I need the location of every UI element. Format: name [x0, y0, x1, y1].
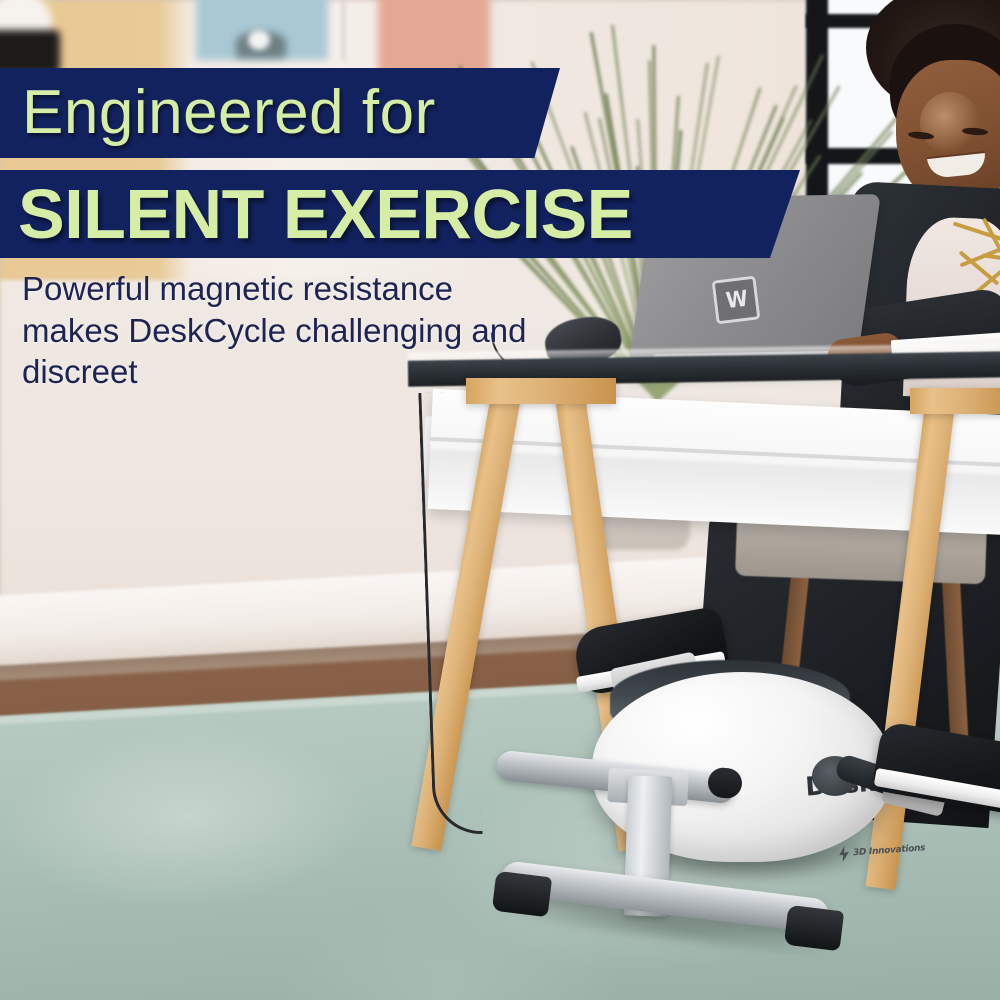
face-highlight — [920, 92, 980, 154]
base-foot-left — [492, 871, 552, 918]
lamp-base — [0, 30, 60, 74]
desk-leg-back-rail — [910, 388, 1000, 414]
sub-brand-mark-icon — [838, 846, 851, 863]
base-foot-right — [784, 905, 844, 952]
necklace — [952, 222, 1000, 300]
sub-brand-text: 3D Innovations — [853, 843, 926, 858]
deskcycle-pedal-exerciser: DeskCycle 3D Innovations — [480, 630, 950, 950]
subheadline-text: Powerful magnetic resistance makes DeskC… — [22, 268, 542, 393]
headline-banner-primary: Engineered for — [0, 68, 560, 158]
marketing-banner-image: W — [0, 0, 1000, 1000]
headline-line-two: SILENT EXERCISE — [18, 179, 633, 249]
door-frame-edge — [342, 0, 345, 60]
w-monogram-icon: W — [711, 275, 760, 324]
artwork-left-highlight — [248, 30, 270, 50]
headline-line-one: Engineered for — [22, 82, 436, 144]
headline-banner-secondary: SILENT EXERCISE — [0, 170, 800, 258]
artwork-right — [378, 0, 490, 75]
